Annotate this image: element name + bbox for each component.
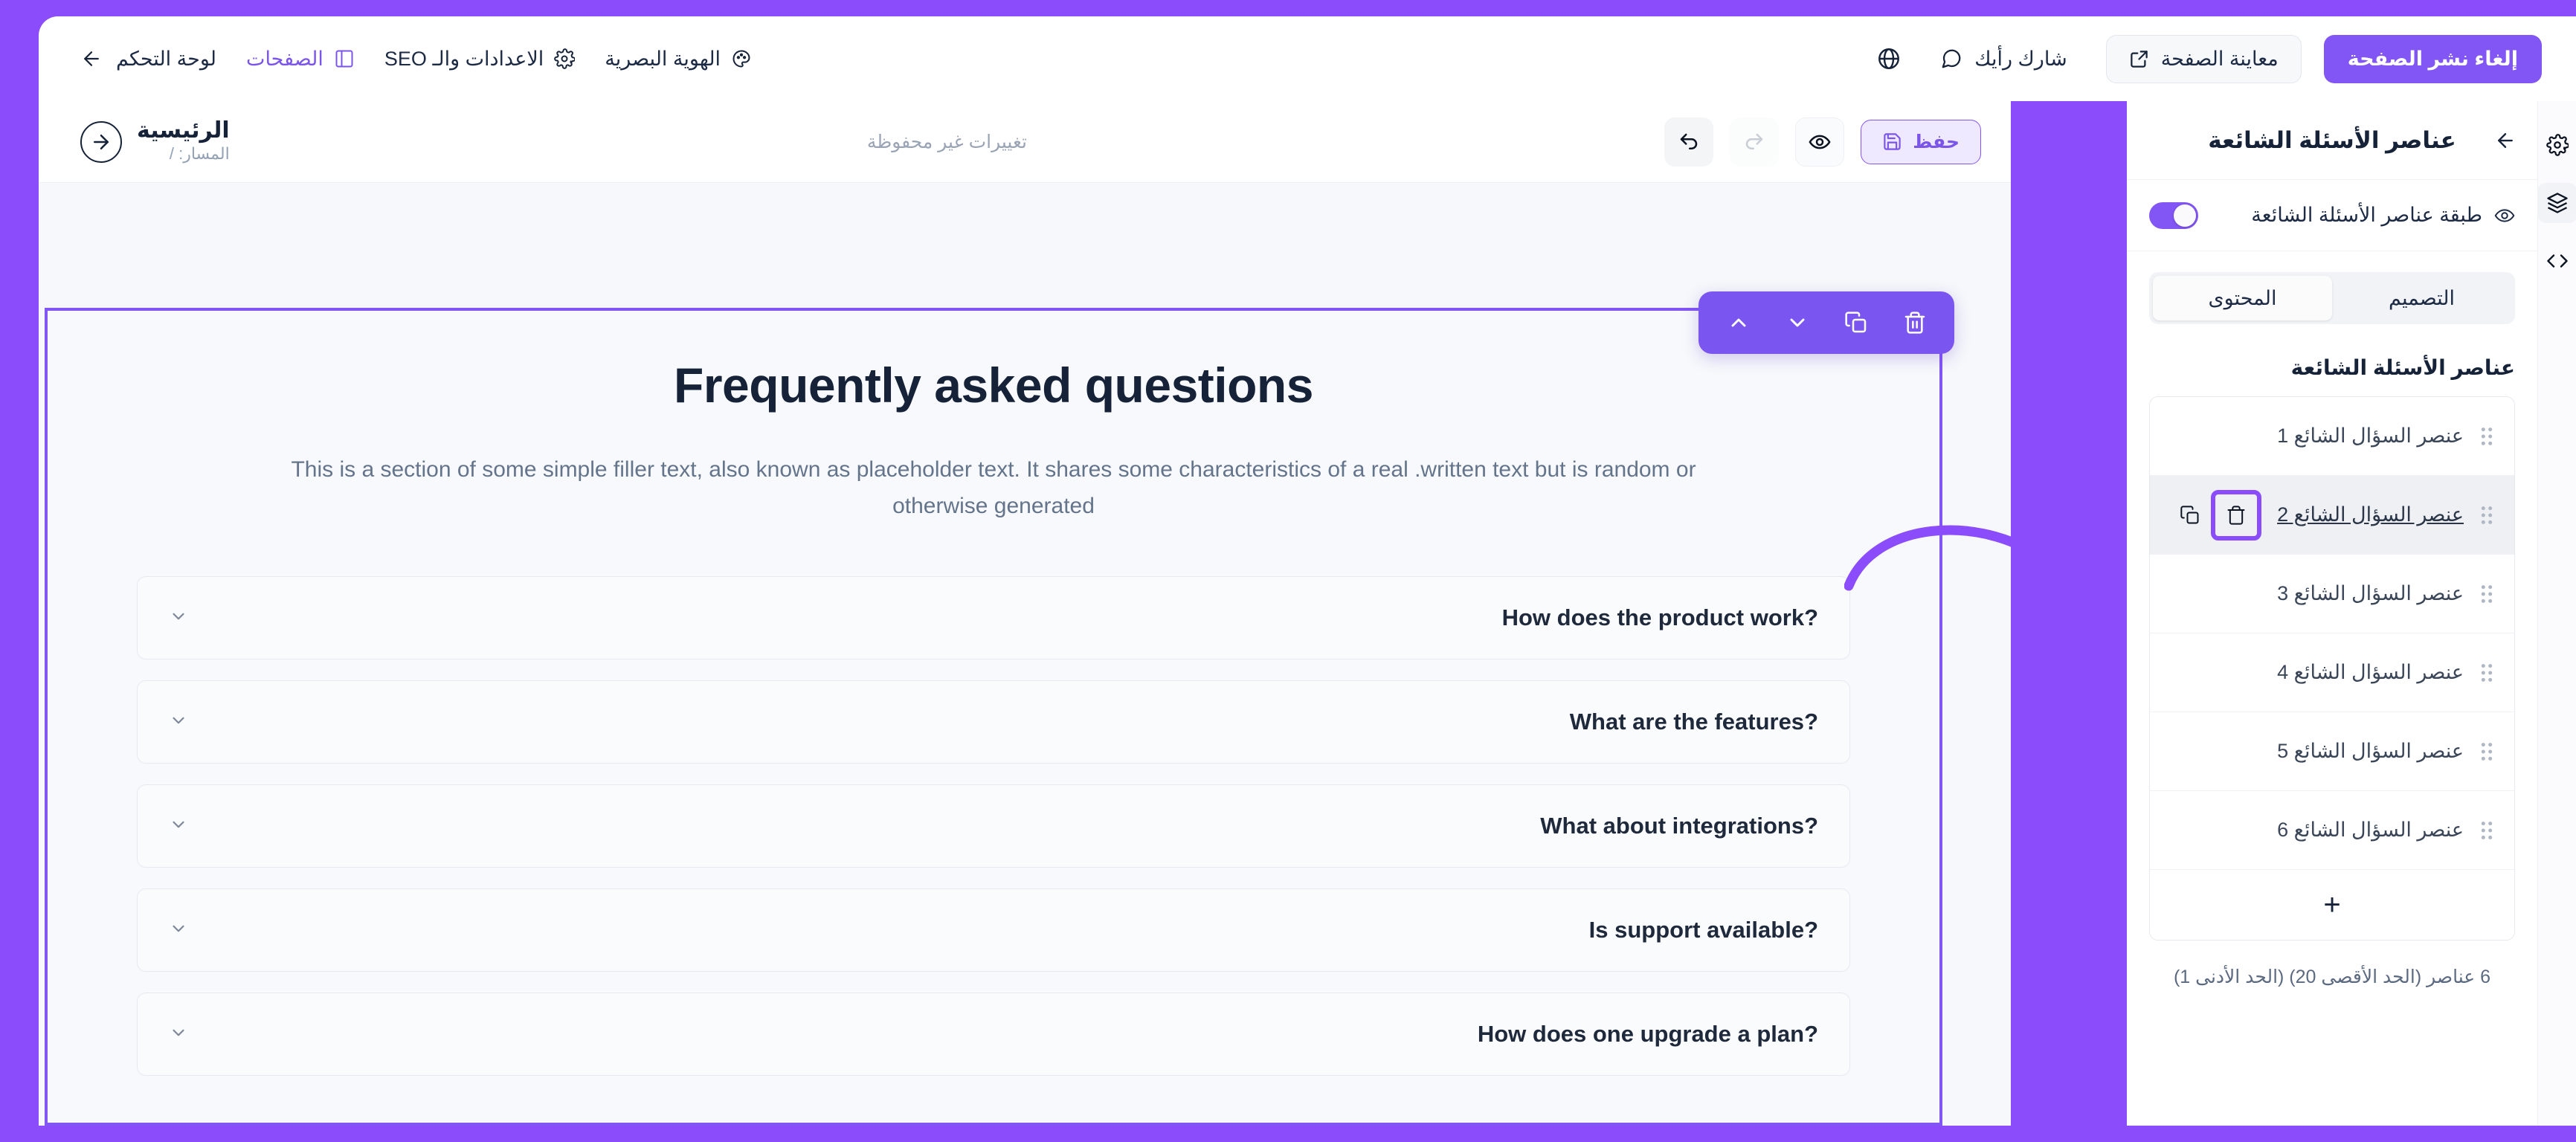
nav-item-dashboard[interactable]: لوحة التحكم bbox=[80, 48, 216, 71]
drag-handle-icon[interactable] bbox=[2479, 426, 2495, 447]
chevron-down-icon[interactable] bbox=[169, 607, 188, 630]
faq-subheading: This is a section of some simple filler … bbox=[265, 452, 1722, 524]
preview-page-label: معاينة الصفحة bbox=[2161, 48, 2279, 71]
panel-tabs: التصميم المحتوى bbox=[2149, 272, 2515, 324]
editor-toolbar: حفظ bbox=[39, 101, 2011, 183]
drag-handle-icon[interactable] bbox=[2479, 584, 2495, 604]
panel-header: عناصر الأسئلة الشائعة bbox=[2127, 101, 2537, 180]
nav-label-settings-seo: الاعدادات والـ SEO bbox=[384, 48, 544, 71]
redo-button[interactable] bbox=[1730, 117, 1779, 167]
list-item-actions bbox=[2169, 494, 2257, 536]
floppy-disk-icon bbox=[1882, 132, 1902, 152]
pages-icon bbox=[334, 48, 355, 69]
faq-accordion-item[interactable]: ?How does the product work bbox=[137, 576, 1850, 659]
list-item-label: عنصر السؤال الشائع 6 bbox=[2277, 819, 2464, 842]
drag-handle-icon[interactable] bbox=[2479, 505, 2495, 526]
list-item-label: عنصر السؤال الشائع 4 bbox=[2277, 661, 2464, 684]
code-icon[interactable] bbox=[2537, 241, 2576, 281]
globe-icon[interactable] bbox=[1876, 46, 1902, 71]
layer-visibility-label: طبقة عناصر الأسئلة الشائعة bbox=[2251, 204, 2482, 227]
arrow-right-icon bbox=[80, 48, 103, 70]
undo-icon bbox=[1678, 131, 1700, 153]
faq-heading: Frequently asked questions bbox=[137, 357, 1850, 413]
page-meta: الرئيسية المسار: / bbox=[137, 118, 230, 165]
faq-accordion-item[interactable]: ?How does one upgrade a plan bbox=[137, 993, 1850, 1076]
layer-visibility-row: طبقة عناصر الأسئلة الشائعة bbox=[2127, 180, 2537, 251]
chevron-up-icon[interactable] bbox=[1717, 301, 1760, 344]
toolbar-page-info: الرئيسية المسار: / bbox=[80, 118, 230, 165]
faq-question: ?What about integrations bbox=[1540, 813, 1818, 839]
list-item[interactable]: عنصر السؤال الشائع 1 bbox=[2150, 397, 2514, 476]
items-count-text: 6 عناصر (الحد الأقصى 20) (الحد الأدنى 1) bbox=[2127, 966, 2537, 988]
gear-icon bbox=[554, 48, 575, 69]
toolbar-left-actions: حفظ bbox=[1664, 117, 1981, 167]
tab-content[interactable]: المحتوى bbox=[2153, 276, 2332, 320]
arrow-right-icon[interactable] bbox=[2494, 129, 2517, 152]
faq-accordion-item[interactable]: ?What are the features bbox=[137, 680, 1850, 764]
drag-handle-icon[interactable] bbox=[2479, 662, 2495, 683]
list-item-label: عنصر السؤال الشائع 1 bbox=[2277, 425, 2464, 448]
external-link-icon bbox=[2129, 49, 2149, 69]
faq-items-list: عنصر السؤال الشائع 1 عنصر السؤال الشائع … bbox=[2149, 396, 2515, 941]
faq-section-content: Frequently asked questions This is a sec… bbox=[48, 311, 1939, 1076]
page-title: الرئيسية bbox=[137, 118, 230, 144]
add-item-label: + bbox=[2323, 890, 2340, 920]
faq-accordion-item[interactable]: ?What about integrations bbox=[137, 784, 1850, 868]
list-item[interactable]: عنصر السؤال الشائع 2 bbox=[2150, 476, 2514, 555]
tab-design[interactable]: التصميم bbox=[2332, 276, 2511, 320]
panel-title: عناصر الأسئلة الشائعة bbox=[2208, 127, 2456, 154]
nav-item-pages[interactable]: الصفحات bbox=[246, 48, 355, 71]
chevron-down-icon[interactable] bbox=[169, 815, 188, 838]
toggle-knob bbox=[2174, 204, 2196, 227]
faq-question: ?What are the features bbox=[1570, 709, 1818, 735]
drag-handle-icon[interactable] bbox=[2479, 741, 2495, 762]
share-feedback-label: شارك رأيك bbox=[1974, 48, 2067, 71]
redo-icon bbox=[1743, 131, 1765, 153]
faq-accordion-list: ?How does the product work ?What are the… bbox=[137, 576, 1850, 1076]
save-label: حفظ bbox=[1913, 131, 1960, 153]
drag-handle-icon[interactable] bbox=[2479, 820, 2495, 841]
right-icon-rail bbox=[2537, 101, 2576, 1126]
faq-accordion-item[interactable]: ?Is support available bbox=[137, 888, 1850, 972]
faq-question: ?How does one upgrade a plan bbox=[1478, 1021, 1818, 1048]
add-item-button[interactable]: + bbox=[2150, 870, 2514, 940]
nav-label-pages: الصفحات bbox=[246, 48, 323, 71]
arrow-circle-icon[interactable] bbox=[80, 121, 122, 163]
list-item[interactable]: عنصر السؤال الشائع 5 bbox=[2150, 712, 2514, 791]
eye-icon bbox=[2494, 205, 2515, 226]
chevron-down-icon[interactable] bbox=[169, 1023, 188, 1046]
faq-question: ?Is support available bbox=[1589, 917, 1818, 943]
layer-visibility-toggle[interactable] bbox=[2149, 202, 2198, 229]
list-item-label: عنصر السؤال الشائع 5 bbox=[2277, 740, 2464, 763]
section-floating-toolbar bbox=[1698, 291, 1954, 354]
chevron-down-icon[interactable] bbox=[169, 919, 188, 942]
properties-panel: عناصر الأسئلة الشائعة طبقة عناصر الأسئلة… bbox=[2127, 101, 2537, 1126]
list-item[interactable]: عنصر السؤال الشائع 3 bbox=[2150, 555, 2514, 633]
save-button[interactable]: حفظ bbox=[1861, 120, 1981, 164]
list-item-label: عنصر السؤال الشائع 3 bbox=[2277, 582, 2464, 605]
nav-item-settings-seo[interactable]: الاعدادات والـ SEO bbox=[384, 48, 575, 71]
editor-app: إلغاء نشر الصفحة معاينة الصفحة شارك رأيك bbox=[0, 0, 2576, 1142]
undo-button[interactable] bbox=[1664, 117, 1713, 167]
share-feedback-link[interactable]: شارك رأيك bbox=[1940, 48, 2067, 71]
copy-icon[interactable] bbox=[1835, 301, 1878, 344]
layers-icon[interactable] bbox=[2537, 183, 2576, 223]
palette-icon bbox=[731, 48, 752, 69]
topbar-right-nav: الهوية البصرية الاعدادات والـ SEO bbox=[80, 48, 752, 71]
trash-icon[interactable] bbox=[1893, 301, 1936, 344]
panel-section-title: عناصر الأسئلة الشائعة bbox=[2149, 355, 2515, 380]
faq-question: ?How does the product work bbox=[1502, 604, 1818, 631]
eye-icon bbox=[1809, 131, 1831, 153]
list-item[interactable]: عنصر السؤال الشائع 4 bbox=[2150, 633, 2514, 712]
cancel-publish-button[interactable]: إلغاء نشر الصفحة bbox=[2324, 35, 2542, 83]
copy-icon[interactable] bbox=[2169, 494, 2211, 536]
list-item-label: عنصر السؤال الشائع 2 bbox=[2277, 503, 2464, 526]
chevron-down-icon[interactable] bbox=[169, 711, 188, 734]
preview-page-button[interactable]: معاينة الصفحة bbox=[2106, 35, 2302, 83]
unsaved-changes-status: تغييرات غير محفوظة bbox=[867, 131, 1027, 153]
trash-icon[interactable] bbox=[2215, 494, 2257, 536]
page-path: المسار: / bbox=[137, 143, 230, 165]
nav-label-dashboard: لوحة التحكم bbox=[116, 48, 216, 71]
chat-bubble-icon bbox=[1940, 48, 1962, 70]
chevron-down-icon[interactable] bbox=[1776, 301, 1819, 344]
gear-icon[interactable] bbox=[2537, 125, 2576, 165]
faq-section-selected[interactable]: Frequently asked questions This is a sec… bbox=[45, 308, 1942, 1126]
preview-toggle-button[interactable] bbox=[1795, 117, 1844, 167]
list-item[interactable]: عنصر السؤال الشائع 6 bbox=[2150, 791, 2514, 870]
nav-label-visual-identity: الهوية البصرية bbox=[605, 48, 721, 71]
top-navigation-bar: إلغاء نشر الصفحة معاينة الصفحة شارك رأيك bbox=[39, 16, 2576, 101]
nav-item-visual-identity[interactable]: الهوية البصرية bbox=[605, 48, 752, 71]
topbar-left-actions: إلغاء نشر الصفحة معاينة الصفحة شارك رأيك bbox=[1876, 35, 2542, 83]
